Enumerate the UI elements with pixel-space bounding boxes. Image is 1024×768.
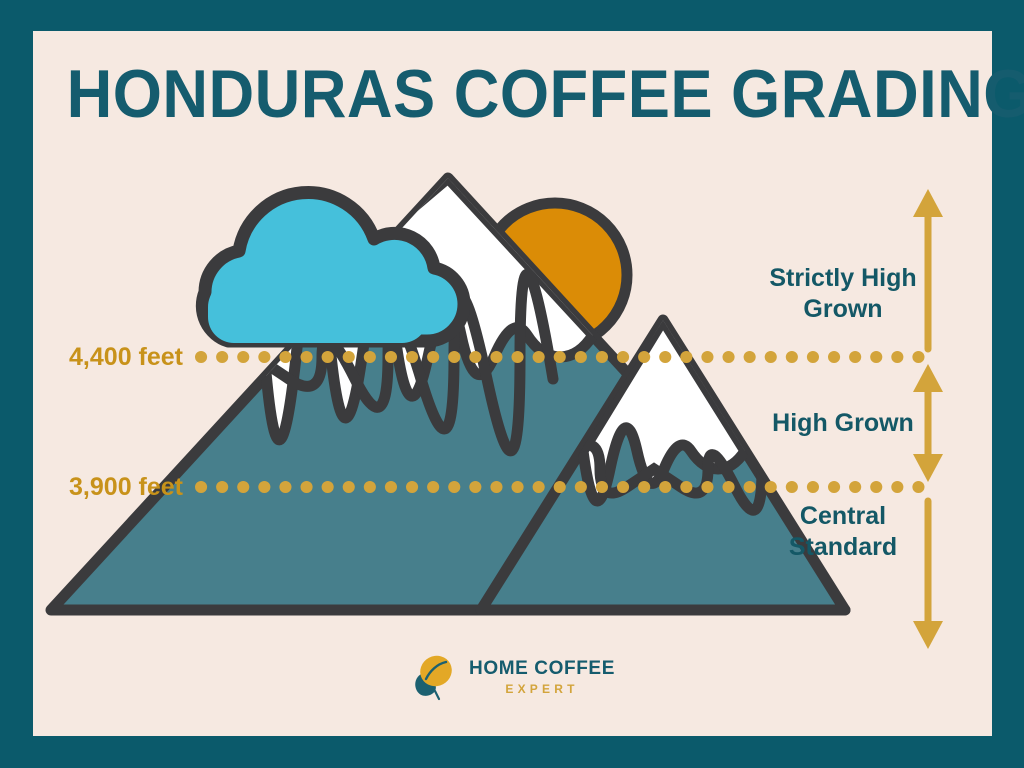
logo-subtitle: EXPERT [469,683,615,695]
illustration-scene [33,31,992,736]
band-label-line1: Strictly High [748,263,938,294]
logo-name: HOME COFFEE [469,659,615,678]
infographic-root: HONDURAS COFFEE GRADING [0,0,1024,768]
band-label-line2: Grown [748,294,938,325]
elevation-label-lower: 3,900 feet [33,473,183,502]
band-label-line2: Standard [748,532,938,563]
logo-text-block: HOME COFFEE EXPERT [469,659,615,695]
band-label-line1: Central [748,501,938,532]
band-label-line1: High Grown [748,408,938,439]
elevation-label-upper: 4,400 feet [33,343,183,372]
band-label-strictly-high-grown: Strictly High Grown [748,263,938,326]
band-label-high-grown: High Grown [748,408,938,439]
brand-logo: HOME COFFEE EXPERT [33,653,992,701]
coffee-bean-leaf-icon [410,653,460,701]
band-label-central-standard: Central Standard [748,501,938,564]
infographic-panel: HONDURAS COFFEE GRADING [33,31,992,736]
